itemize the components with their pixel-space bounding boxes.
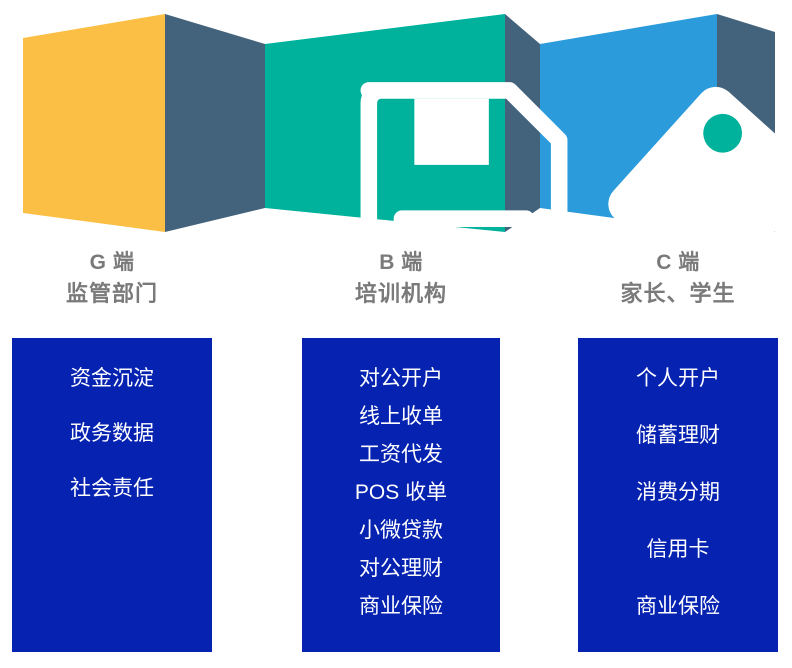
- service-item: POS 收单: [355, 482, 447, 503]
- panel-side-c-right: [717, 14, 775, 232]
- heading-name-c: 家长、学生: [578, 278, 778, 310]
- heading-key-b: B 端: [302, 248, 500, 278]
- panel-face-g: [23, 14, 165, 232]
- service-box-c: 个人开户 储蓄理财 消费分期 信用卡 商业保险: [578, 338, 778, 652]
- service-box-g: 资金沉淀 政务数据 社会责任: [12, 338, 212, 652]
- service-item: 政务数据: [70, 423, 154, 444]
- service-item: 线上收单: [359, 406, 443, 427]
- service-item: 信用卡: [647, 539, 710, 560]
- service-item: 储蓄理财: [636, 425, 720, 446]
- panel-side-b-c: [505, 14, 540, 232]
- heading-column-b: B 端 培训机构: [302, 248, 500, 310]
- heading-column-g: G 端 监管部门: [12, 248, 212, 310]
- infographic-root: G 端 监管部门 B 端 培训机构 C 端 家长、学生 资金沉淀 政务数据 社会…: [0, 0, 792, 668]
- service-item: 社会责任: [70, 478, 154, 499]
- service-box-b: 对公开户 线上收单 工资代发 POS 收单 小微贷款 对公理财 商业保险: [302, 338, 500, 652]
- service-item: 消费分期: [636, 482, 720, 503]
- service-item: 对公理财: [359, 558, 443, 579]
- panel-side-g-b: [165, 14, 265, 232]
- service-item: 对公开户: [359, 368, 443, 389]
- panel-face-c: [540, 14, 717, 232]
- column-headings: G 端 监管部门 B 端 培训机构 C 端 家长、学生: [0, 248, 792, 328]
- heading-key-g: G 端: [12, 248, 212, 278]
- service-item: 个人开户: [636, 368, 720, 389]
- service-item: 商业保险: [636, 596, 720, 617]
- heading-name-b: 培训机构: [302, 278, 500, 310]
- service-item: 小微贷款: [359, 520, 443, 541]
- heading-key-c: C 端: [578, 248, 778, 278]
- heading-column-c: C 端 家长、学生: [578, 248, 778, 310]
- service-item: 资金沉淀: [70, 368, 154, 389]
- service-item: 工资代发: [359, 444, 443, 465]
- heading-name-g: 监管部门: [12, 278, 212, 310]
- panel-band: [0, 0, 792, 240]
- service-item: 商业保险: [359, 596, 443, 617]
- panel-face-b: [265, 14, 505, 232]
